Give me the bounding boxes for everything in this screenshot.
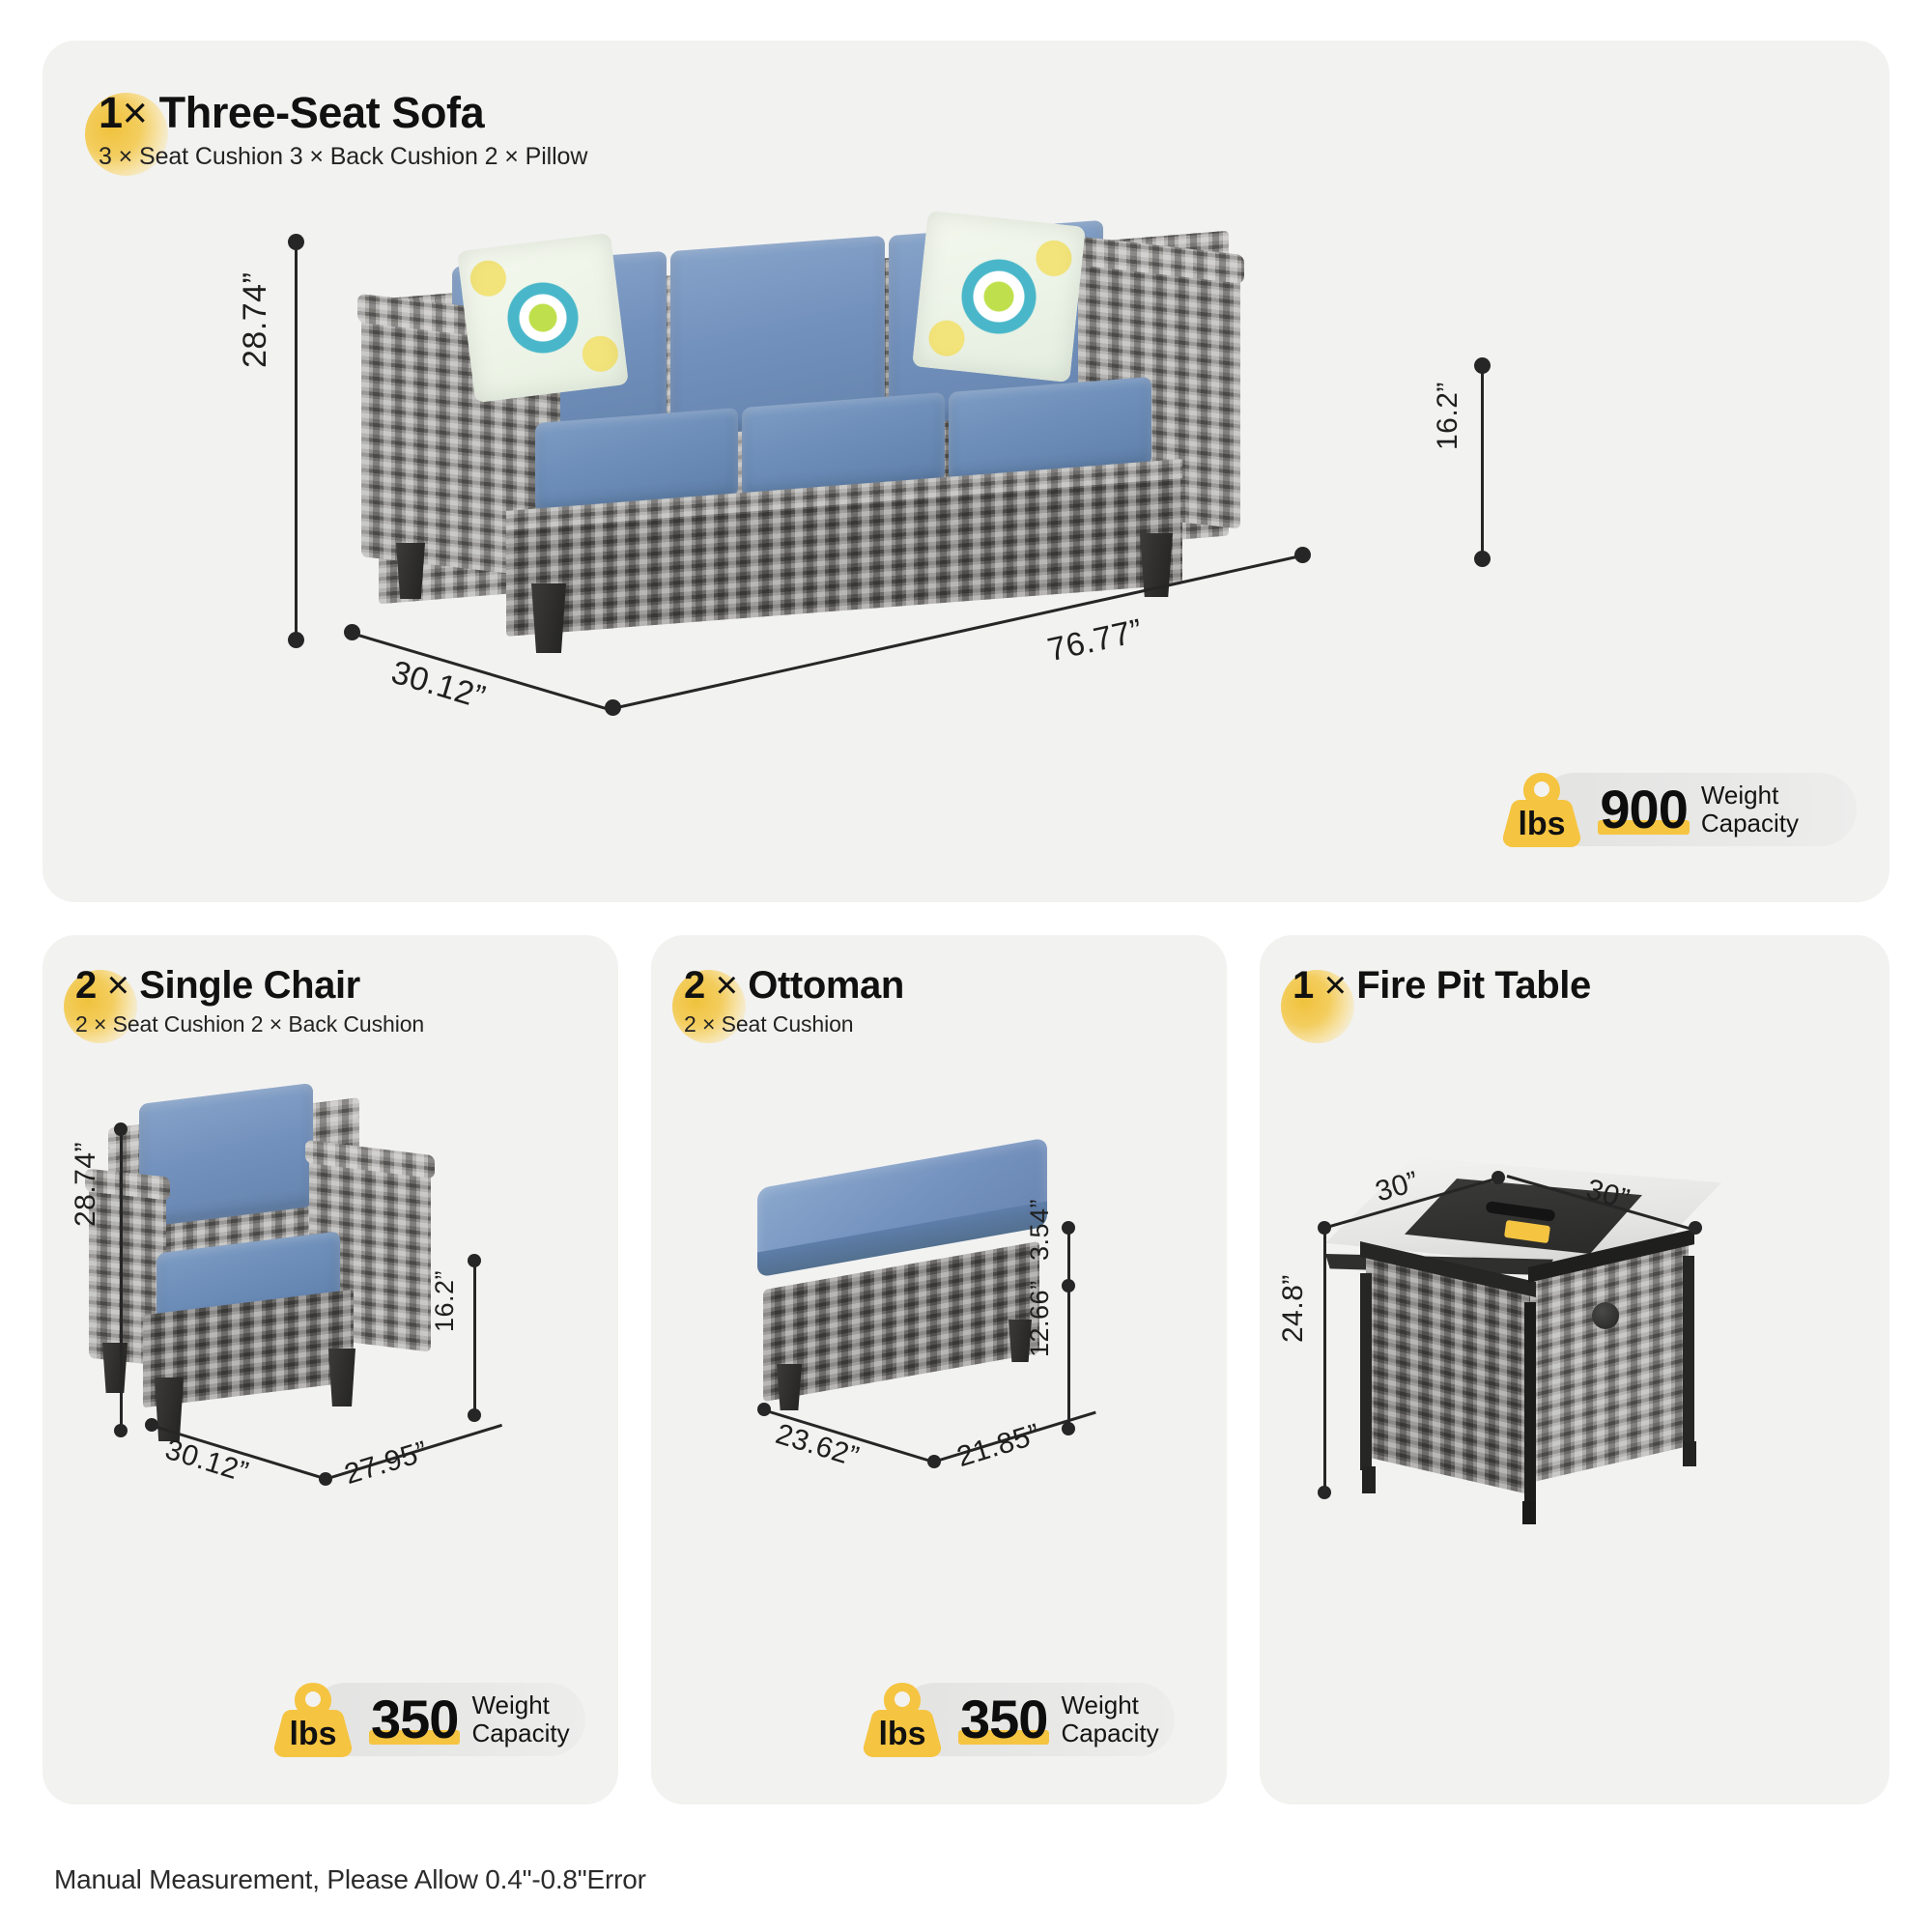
dim-sofa-height: 28.74” — [237, 272, 274, 368]
card-components-chair: 2 × Seat Cushion 2 × Back Cushion — [75, 1011, 424, 1037]
svg-text:lbs: lbs — [1519, 806, 1566, 842]
card-qty: 2 — [684, 964, 705, 1007]
card-title-ottoman: 2 × Ottoman — [684, 966, 904, 1007]
weight-caption-line2: Capacity — [1701, 810, 1799, 838]
card-sep: × — [716, 964, 738, 1007]
card-header-chair: 2 × Single Chair 2 × Seat Cushion 2 × Ba… — [75, 966, 424, 1037]
card-sep: × — [107, 964, 129, 1007]
footer-note: Manual Measurement, Please Allow 0.4"-0.… — [54, 1864, 646, 1895]
chair-dimensions: 28.74” 16.2” 30.12” 27.95” — [43, 935, 618, 1804]
product-card-chair: 2 × Single Chair 2 × Seat Cushion 2 × Ba… — [43, 935, 618, 1804]
card-name: Ottoman — [748, 964, 904, 1007]
product-card-row: 2 × Single Chair 2 × Seat Cushion 2 × Ba… — [43, 935, 1889, 1804]
card-qty: 1 — [99, 88, 123, 137]
product-card-sofa: 1× Three-Seat Sofa 3 × Seat Cushion 3 × … — [43, 41, 1889, 902]
card-title-sofa: 1× Three-Seat Sofa — [99, 91, 587, 136]
card-components-ottoman: 2 × Seat Cushion — [684, 1011, 904, 1037]
weight-caption-line1: Weight — [1701, 781, 1799, 810]
dim-chair-seat-height: 16.2” — [430, 1270, 460, 1332]
dim-sofa-width: 76.77” — [1044, 612, 1146, 670]
weight-badge-ottoman: lbs 350 Weight Capacity — [856, 1677, 1186, 1762]
card-title-chair: 2 × Single Chair — [75, 966, 424, 1007]
card-qty: 1 — [1293, 964, 1314, 1007]
weight-caption-line2: Capacity — [1061, 1719, 1158, 1747]
dim-ottoman-height: 12.66” — [1025, 1280, 1055, 1357]
card-components-sofa: 3 × Seat Cushion 3 × Back Cushion 2 × Pi… — [99, 143, 587, 171]
weight-badge-sofa: lbs 900 Weight Capacity — [1495, 767, 1826, 852]
card-name: Single Chair — [139, 964, 360, 1007]
card-header-sofa: 1× Three-Seat Sofa 3 × Seat Cushion 3 × … — [99, 91, 587, 171]
card-sep: × — [123, 88, 148, 137]
weight-value-chair: 350 — [371, 1692, 458, 1747]
dim-firepit-top-right: 30” — [1582, 1173, 1633, 1216]
svg-text:lbs: lbs — [878, 1716, 925, 1752]
firepit-dimensions: 30” 30” 24.8” — [1260, 935, 1889, 1804]
dim-firepit-height: 24.8” — [1277, 1274, 1310, 1343]
product-card-firepit: 1 × Fire Pit Table — [1260, 935, 1889, 1804]
weight-caption-line1: Weight — [1061, 1691, 1158, 1719]
weight-value-ottoman: 350 — [960, 1692, 1047, 1747]
weight-value-sofa: 900 — [1600, 782, 1687, 837]
dim-sofa-seat-height: 16.2” — [1432, 382, 1464, 450]
card-name: Fire Pit Table — [1356, 964, 1591, 1007]
weight-icon: lbs — [1495, 767, 1588, 852]
card-header-ottoman: 2 × Ottoman 2 × Seat Cushion — [684, 966, 904, 1037]
card-sep: × — [1324, 964, 1347, 1007]
card-title-firepit: 1 × Fire Pit Table — [1293, 966, 1591, 1007]
dim-chair-height: 28.74” — [70, 1142, 102, 1227]
product-card-ottoman: 2 × Ottoman 2 × Seat Cushion 3 — [651, 935, 1227, 1804]
card-name: Three-Seat Sofa — [159, 88, 485, 137]
weight-badge-chair: lbs 350 Weight Capacity — [267, 1677, 597, 1762]
weight-icon: lbs — [267, 1677, 359, 1762]
dim-ottoman-width: 21.85” — [953, 1418, 1044, 1474]
spec-sheet: 1× Three-Seat Sofa 3 × Seat Cushion 3 × … — [0, 0, 1932, 1932]
dim-ottoman-cushion: 3.54” — [1025, 1199, 1055, 1261]
dim-chair-width: 27.95” — [341, 1435, 432, 1492]
weight-caption-line1: Weight — [471, 1691, 569, 1719]
dim-sofa-depth: 30.12” — [387, 654, 490, 718]
card-header-firepit: 1 × Fire Pit Table — [1293, 966, 1591, 1007]
svg-text:lbs: lbs — [289, 1716, 336, 1752]
weight-caption-line2: Capacity — [471, 1719, 569, 1747]
weight-icon: lbs — [856, 1677, 949, 1762]
card-qty: 2 — [75, 964, 97, 1007]
ottoman-dimensions: 3.54” 12.66” 23.62” 21.85” — [651, 935, 1227, 1804]
